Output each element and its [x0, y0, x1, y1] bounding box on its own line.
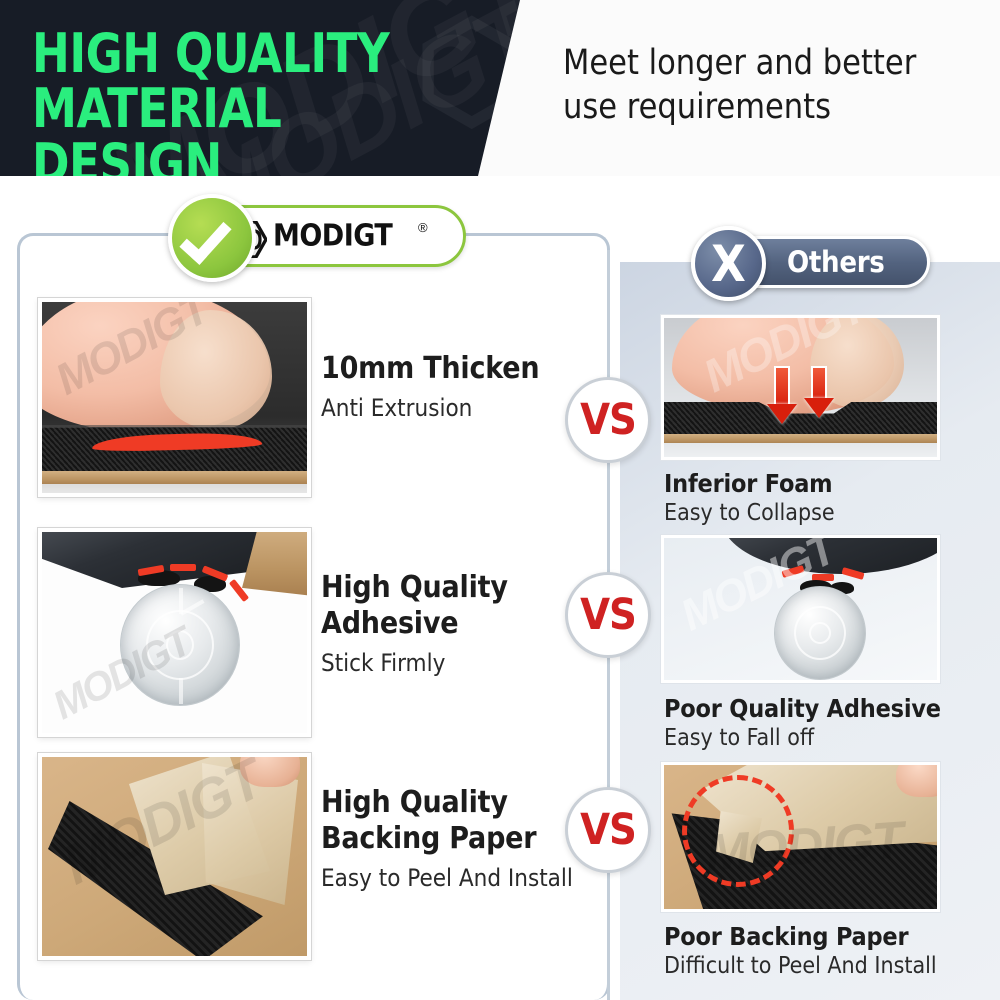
- drawback-subtitle: Easy to Fall off: [664, 724, 941, 753]
- drawback-title: Poor Backing Paper: [664, 922, 937, 952]
- others-photo-inferior-foam: MODIGT: [661, 315, 940, 460]
- foam-top-edge: [38, 425, 311, 428]
- vs-badge: VS: [565, 572, 651, 658]
- check-icon: [168, 194, 256, 282]
- drawback-text-inferior-foam: Inferior Foam Easy to Collapse: [664, 469, 835, 528]
- photo-scene: MODIGT: [664, 318, 937, 457]
- photo-scene: MODIGT: [42, 532, 307, 733]
- others-photo-poor-adhesive: MODIGT: [661, 535, 940, 683]
- header-banner: MODIGT MODIGT ⬡ HIGH QUALITY MATERIAL DE…: [0, 0, 1000, 176]
- vs-label: VS: [580, 590, 636, 640]
- feature-subtitle: Easy to Peel And Install: [321, 862, 573, 894]
- others-badge: X Others: [700, 236, 930, 288]
- photo-scene: MODIGT: [664, 538, 937, 680]
- feature-title-line-2: Backing Paper: [321, 821, 573, 857]
- x-mark-shape: X: [695, 230, 762, 297]
- x-icon: X: [691, 226, 766, 301]
- drawback-title: Poor Quality Adhesive: [664, 694, 941, 724]
- drawback-subtitle: Difficult to Peel And Install: [664, 952, 937, 981]
- bottle-center-ring: [809, 622, 831, 644]
- finger-shape: [896, 762, 940, 797]
- photo-floor: [661, 443, 940, 460]
- finger-shape: [240, 753, 300, 787]
- drawback-subtitle: Easy to Collapse: [664, 499, 835, 528]
- feature-title-line-1: High Quality: [321, 785, 573, 821]
- page-title: HIGH QUALITY MATERIAL DESIGN: [32, 26, 469, 176]
- drawback-text-poor-adhesive: Poor Quality Adhesive Easy to Fall off: [664, 694, 941, 753]
- photo-floor: [38, 484, 311, 497]
- product-photo-backing-paper: MODIGT: [38, 753, 311, 960]
- drawback-title: Inferior Foam: [664, 469, 835, 499]
- vs-label: VS: [580, 805, 636, 855]
- others-label: Others: [787, 245, 885, 279]
- vs-badge: VS: [565, 787, 651, 873]
- vs-label: VS: [580, 395, 636, 445]
- vs-badge: VS: [565, 377, 651, 463]
- feature-title-line-2: Adhesive: [321, 606, 508, 642]
- feature-subtitle: Anti Extrusion: [321, 392, 539, 424]
- others-photo-poor-backing-paper: MODIGT: [661, 762, 940, 912]
- bottle-center-ring: [166, 630, 194, 660]
- subhead-line-2: use requirements: [563, 85, 970, 129]
- feature-title-line-1: High Quality: [321, 570, 508, 606]
- registered-mark: ®: [418, 220, 428, 235]
- subhead-line-1: Meet longer and better: [563, 41, 970, 85]
- photo-scene: MODIGT: [42, 757, 307, 956]
- check-mark-shape: [179, 211, 231, 265]
- damage-highlight-circle: [682, 775, 794, 887]
- feature-title: 10mm Thicken: [321, 351, 539, 387]
- photo-scene: MODIGT: [42, 302, 307, 493]
- brand-badge: MODIGT ®: [178, 205, 466, 267]
- infographic-page: MODIGT MODIGT ⬡ HIGH QUALITY MATERIAL DE…: [0, 0, 1000, 1000]
- feature-text-thicken: 10mm Thicken Anti Extrusion: [321, 351, 539, 424]
- feature-text-adhesive: High Quality Adhesive Stick Firmly: [321, 570, 508, 679]
- photo-scene: MODIGT: [664, 765, 937, 909]
- backing-paper-layer: [38, 471, 311, 485]
- feature-subtitle: Stick Firmly: [321, 647, 508, 679]
- bottle-spoke: [179, 678, 183, 704]
- page-subtitle: Meet longer and better use requirements: [563, 41, 970, 129]
- brand-label: MODIGT: [273, 219, 392, 254]
- headline-line-2: MATERIAL DESIGN: [32, 81, 469, 176]
- headline-line-1: HIGH QUALITY: [32, 26, 469, 81]
- product-photo-adhesive: MODIGT: [38, 528, 311, 737]
- drawback-text-poor-backing-paper: Poor Backing Paper Difficult to Peel And…: [664, 922, 937, 981]
- product-photo-thick-foam: MODIGT: [38, 298, 311, 497]
- feature-text-backing-paper: High Quality Backing Paper Easy to Peel …: [321, 785, 573, 894]
